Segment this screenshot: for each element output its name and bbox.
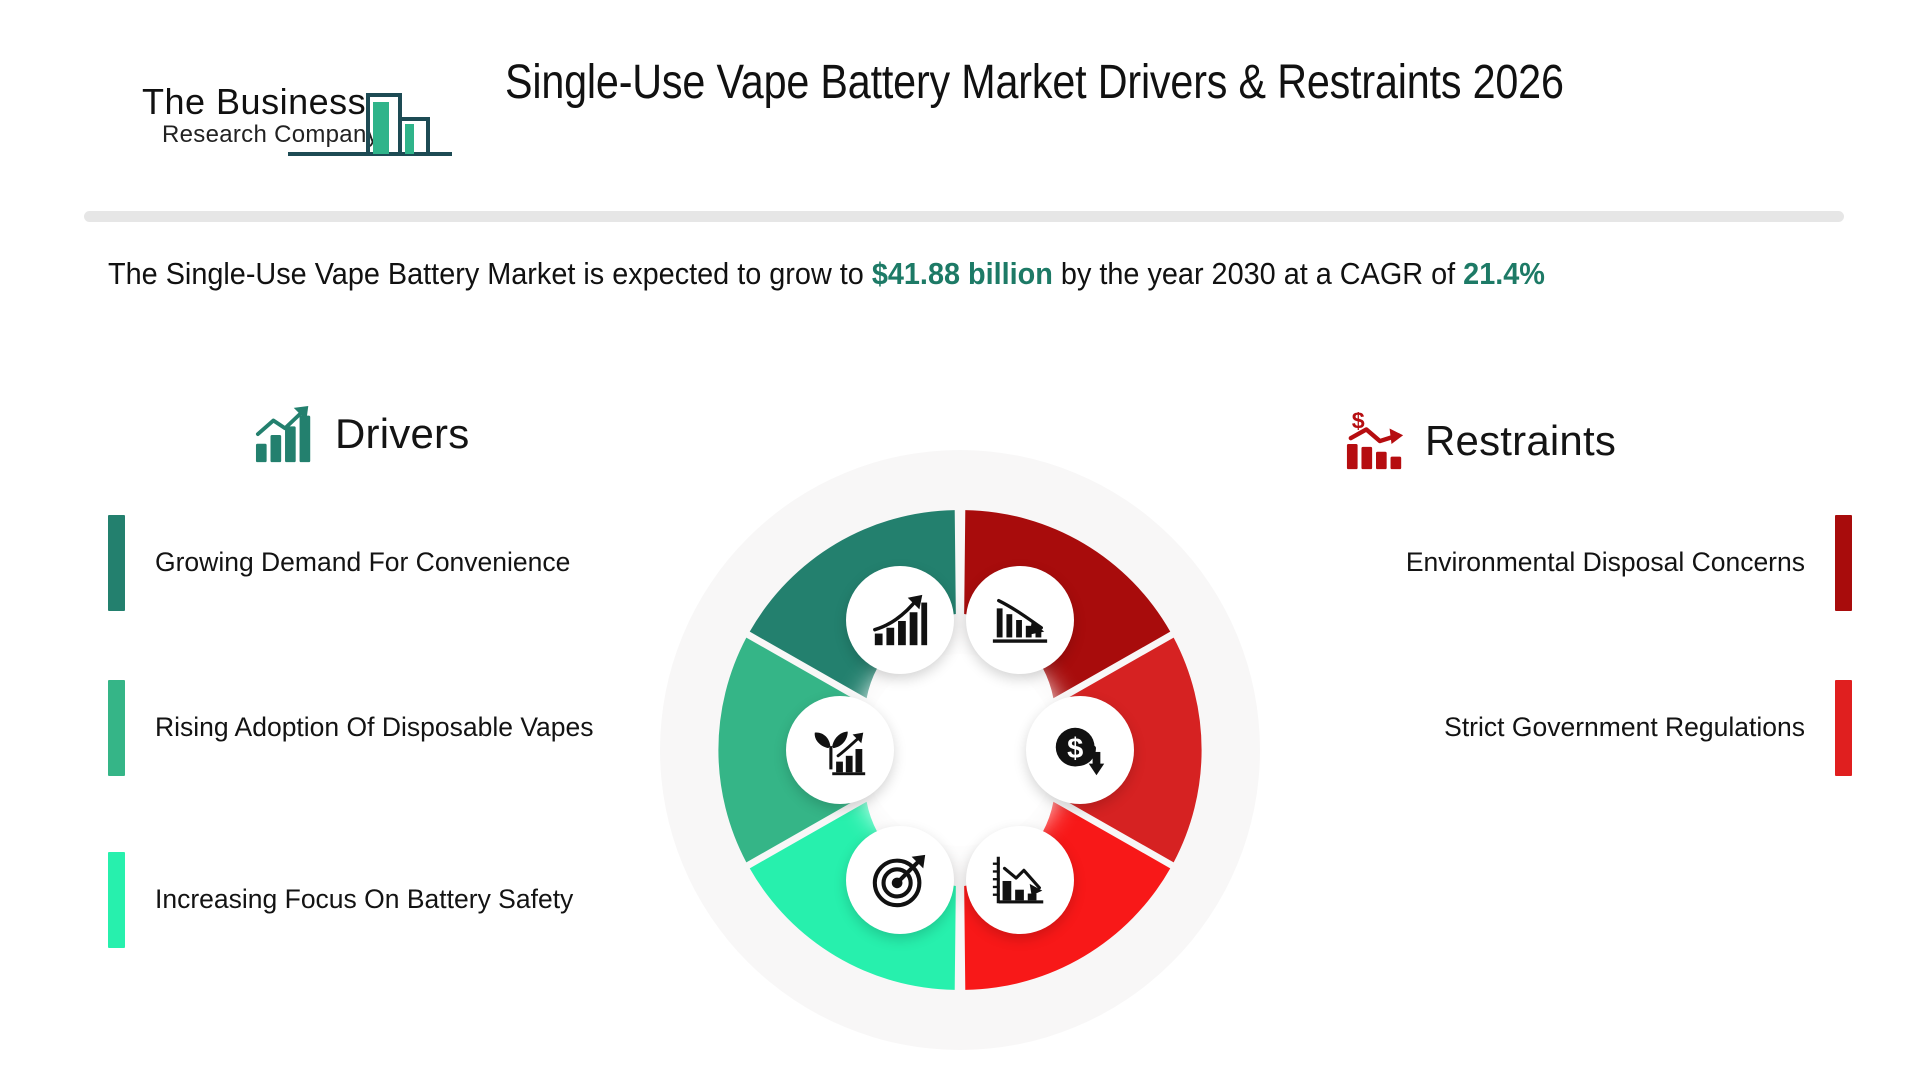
- infographic-page: The Business Research Company Single-Use…: [0, 0, 1920, 1080]
- target-dartboard-icon: [869, 849, 931, 911]
- wheel-icon-plant-growth-chart[interactable]: [786, 696, 894, 804]
- logo-bar-green-2: [405, 124, 414, 154]
- restraint-label-0: Environmental Disposal Concerns: [1406, 515, 1805, 611]
- driver-item-0[interactable]: Growing Demand For Convenience: [108, 515, 668, 611]
- restraint-accent-bar-0: [1835, 515, 1852, 611]
- restraint-item-1[interactable]: Strict Government Regulations: [1292, 680, 1852, 776]
- wheel-icon-growth-bar-chart-arrow-up[interactable]: [846, 566, 954, 674]
- driver-accent-bar-1: [108, 680, 125, 776]
- drivers-header: Drivers: [255, 405, 469, 463]
- logo-text-line2: Research Company: [162, 121, 379, 148]
- header-divider: [84, 211, 1844, 222]
- restraint-item-0[interactable]: Environmental Disposal Concerns: [1292, 515, 1852, 611]
- company-logo: The Business Research Company: [142, 62, 462, 172]
- driver-label-0: Growing Demand For Convenience: [155, 515, 570, 611]
- driver-item-1[interactable]: Rising Adoption Of Disposable Vapes: [108, 680, 668, 776]
- drivers-restraints-wheel: $: [660, 450, 1260, 1050]
- page-title: Single-Use Vape Battery Market Drivers &…: [505, 55, 1649, 111]
- restraints-header: $ Restraints: [1345, 412, 1616, 470]
- dollar-down-arrow-icon: $: [1049, 719, 1111, 781]
- logo-bar-green-1: [373, 102, 389, 154]
- drivers-heading: Drivers: [335, 410, 469, 458]
- driver-accent-bar-2: [108, 852, 125, 948]
- header: The Business Research Company Single-Use…: [0, 0, 1920, 200]
- restraint-label-1: Strict Government Regulations: [1444, 680, 1805, 776]
- restraint-accent-bar-1: [1835, 680, 1852, 776]
- forecast-value: $41.88 billion: [872, 256, 1053, 291]
- restraints-heading: Restraints: [1425, 417, 1616, 465]
- wheel-icon-declining-bar-chart-arrow[interactable]: [966, 566, 1074, 674]
- logo-text-line1: The Business: [142, 81, 366, 122]
- growth-bar-chart-arrow-up-icon: [869, 589, 931, 651]
- svg-text:$: $: [1352, 412, 1365, 433]
- market-summary: The Single-Use Vape Battery Market is ex…: [108, 252, 1726, 297]
- driver-item-2[interactable]: Increasing Focus On Battery Safety: [108, 852, 668, 948]
- wheel-icon-dollar-down-arrow[interactable]: $: [1026, 696, 1134, 804]
- svg-text:$: $: [1067, 733, 1083, 765]
- plant-growth-chart-icon: [809, 719, 871, 781]
- driver-label-2: Increasing Focus On Battery Safety: [155, 852, 573, 948]
- wheel-icon-target-dartboard[interactable]: [846, 826, 954, 934]
- wheel-icon-loss-bar-chart-down[interactable]: [966, 826, 1074, 934]
- declining-bar-chart-arrow-icon: [989, 589, 1051, 651]
- summary-text-part1: The Single-Use Vape Battery Market is ex…: [108, 256, 872, 291]
- summary-text-part2: by the year 2030 at a CAGR of: [1053, 256, 1463, 291]
- driver-accent-bar-0: [108, 515, 125, 611]
- loss-bar-chart-down-icon: [989, 849, 1051, 911]
- cagr-value: 21.4%: [1463, 256, 1545, 291]
- driver-label-1: Rising Adoption Of Disposable Vapes: [155, 680, 594, 776]
- falling-bar-chart-dollar-icon: $: [1345, 412, 1407, 470]
- rising-bar-chart-arrow-icon: [255, 405, 317, 463]
